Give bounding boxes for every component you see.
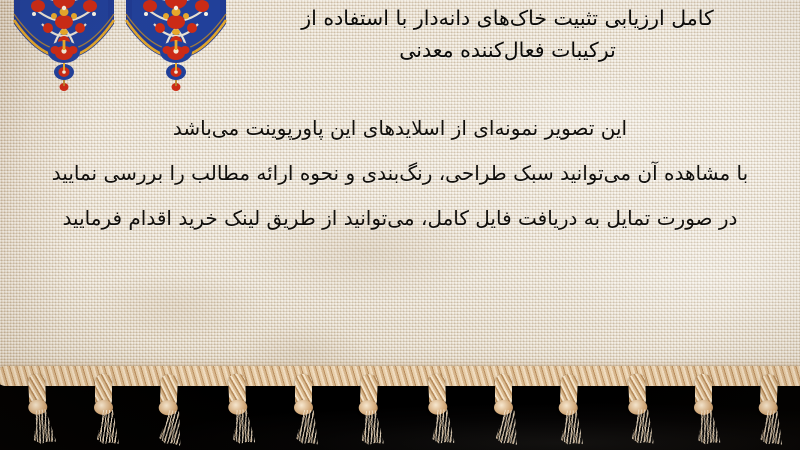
fringe-cord (0, 366, 800, 386)
slide-title: کامل ارزیابی تثبیت خاک‌های دانه‌دار با ا… (225, 2, 790, 66)
slide-title-line-2: ترکیبات فعال‌کننده معدنی (225, 34, 790, 66)
carpet-fringe (0, 360, 800, 450)
body-line-3: در صورت تمایل به دریافت فایل کامل، می‌تو… (20, 196, 780, 241)
slide-title-line-1: کامل ارزیابی تثبیت خاک‌های دانه‌دار با ا… (225, 2, 790, 34)
persian-medallion-ornament-left (8, 0, 120, 102)
persian-medallion-ornament-right (120, 0, 232, 102)
slide-canvas: کامل ارزیابی تثبیت خاک‌های دانه‌دار با ا… (0, 0, 800, 450)
slide-body-text: این تصویر نمونه‌ای از اسلایدهای این پاور… (20, 106, 780, 241)
body-line-2: با مشاهده آن می‌توانید سبک طراحی، رنگ‌بن… (20, 151, 780, 196)
fringe-black-field (0, 378, 800, 450)
body-line-1: این تصویر نمونه‌ای از اسلایدهای این پاور… (20, 106, 780, 151)
